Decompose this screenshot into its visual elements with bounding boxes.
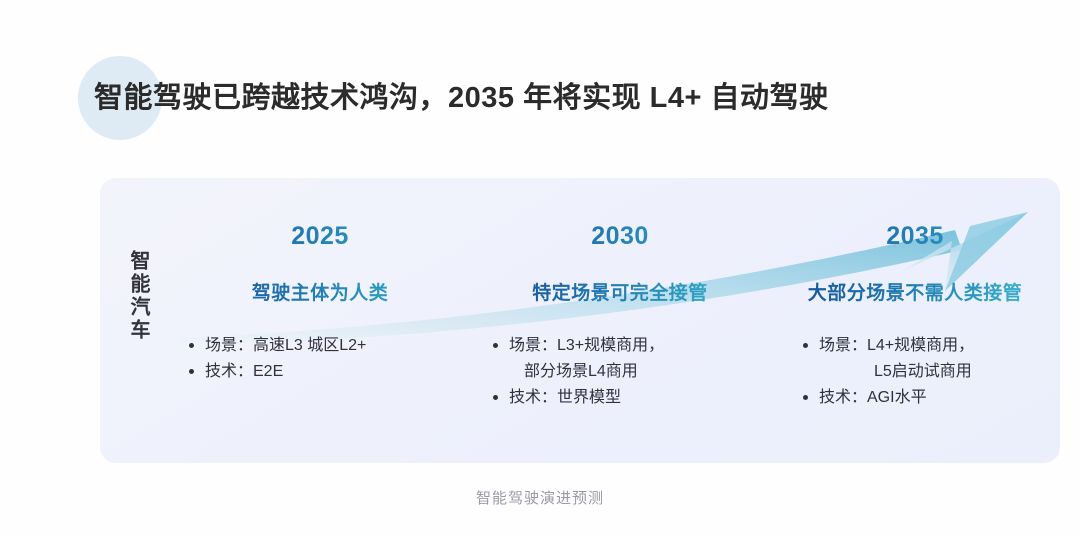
timeline-bullet-list: 场景：L3+规模商用， 部分场景L4商用 技术：世界模型	[492, 333, 664, 411]
bullet-dot-icon	[189, 369, 194, 374]
list-item-text: 场景：L3+规模商用，	[509, 337, 664, 354]
list-item-continuation: 部分场景L4商用	[492, 359, 664, 385]
list-item-text: 技术：AGI水平	[819, 389, 927, 406]
timeline-card: 智能汽车 2025 驾驶主体为人类 场景：高速L3 城区L2+ 技术：E2E 2…	[100, 178, 1060, 463]
timeline-column-2035: 2035 大部分场景不需人类接管 场景：L4+规模商用， L5启动试商用 技术：…	[770, 178, 1060, 463]
list-item-text: 场景：L4+规模商用，	[819, 337, 974, 354]
list-item-continuation: L5启动试商用	[802, 359, 974, 385]
bullet-dot-icon	[803, 395, 808, 400]
timeline-subtitle: 大部分场景不需人类接管	[770, 278, 1060, 305]
list-item-text: 场景：高速L3 城区L2+	[205, 337, 366, 354]
timeline-bullet-list: 场景：高速L3 城区L2+ 技术：E2E	[188, 333, 366, 385]
bullet-dot-icon	[493, 395, 498, 400]
figure-caption: 智能驾驶演进预测	[0, 487, 1080, 508]
timeline-subtitle: 特定场景可完全接管	[470, 278, 770, 305]
list-item: 场景：L3+规模商用，	[492, 333, 664, 359]
timeline-column-2030: 2030 特定场景可完全接管 场景：L3+规模商用， 部分场景L4商用 技术：世…	[470, 178, 770, 463]
list-item: 场景：L4+规模商用，	[802, 333, 974, 359]
timeline-year-label: 2035	[770, 222, 1060, 251]
bullet-dot-icon	[803, 343, 808, 348]
timeline-bullet-list: 场景：L4+规模商用， L5启动试商用 技术：AGI水平	[802, 333, 974, 411]
list-item-text: 技术：E2E	[205, 363, 283, 380]
timeline-year-label: 2030	[470, 222, 770, 251]
timeline-columns: 2025 驾驶主体为人类 场景：高速L3 城区L2+ 技术：E2E 2030 特…	[170, 178, 1060, 463]
list-item: 场景：高速L3 城区L2+	[188, 333, 366, 359]
list-item: 技术：世界模型	[492, 385, 664, 411]
timeline-year-label: 2025	[170, 222, 470, 251]
bullet-dot-icon	[493, 343, 498, 348]
list-item-text: 技术：世界模型	[509, 389, 621, 406]
list-item: 技术：E2E	[188, 359, 366, 385]
vertical-axis-label: 智能汽车	[118, 250, 148, 342]
headline-area: 智能驾驶已跨越技术鸿沟，2035 年将实现 L4+ 自动驾驶	[0, 0, 1080, 160]
page-title: 智能驾驶已跨越技术鸿沟，2035 年将实现 L4+ 自动驾驶	[94, 74, 828, 116]
list-item: 技术：AGI水平	[802, 385, 974, 411]
bullet-dot-icon	[189, 343, 194, 348]
timeline-column-2025: 2025 驾驶主体为人类 场景：高速L3 城区L2+ 技术：E2E	[170, 178, 470, 463]
timeline-subtitle: 驾驶主体为人类	[170, 278, 470, 305]
